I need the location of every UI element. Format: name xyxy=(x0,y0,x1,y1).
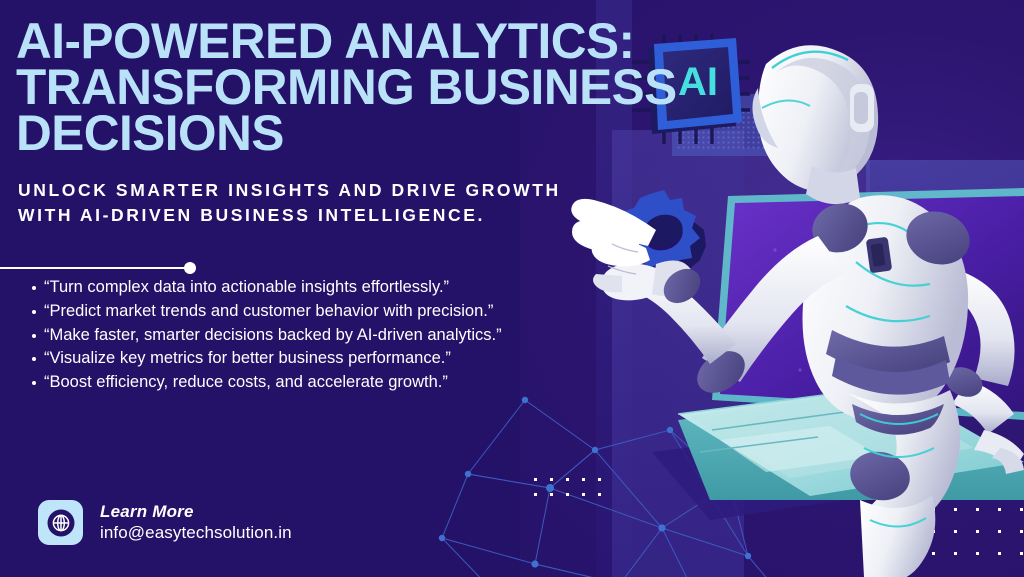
list-item: “Make faster, smarter decisions backed b… xyxy=(32,325,644,347)
divider-line xyxy=(0,267,190,269)
list-item: “Turn complex data into actionable insig… xyxy=(32,277,644,299)
list-item: “Boost efficiency, reduce costs, and acc… xyxy=(32,372,644,394)
divider xyxy=(0,262,206,274)
list-item: “Predict market trends and customer beha… xyxy=(32,301,644,323)
learn-more-label: Learn More xyxy=(100,501,292,522)
divider-dot xyxy=(184,262,196,274)
page-subtitle: Unlock smarter insights and drive growth… xyxy=(18,178,618,229)
page-title: AI-Powered Analytics: Transforming Busin… xyxy=(16,18,798,156)
poster-canvas: AI xyxy=(0,0,1024,577)
content-column: AI-Powered Analytics: Transforming Busin… xyxy=(0,0,640,577)
list-item: “Visualize key metrics for better busine… xyxy=(32,348,644,370)
footer-contact[interactable]: Learn More info@easytechsolution.in xyxy=(38,500,292,545)
footer-text: Learn More info@easytechsolution.in xyxy=(100,501,292,544)
benefits-list: “Turn complex data into actionable insig… xyxy=(14,277,644,396)
contact-email[interactable]: info@easytechsolution.in xyxy=(100,522,292,544)
globe-icon[interactable] xyxy=(38,500,83,545)
